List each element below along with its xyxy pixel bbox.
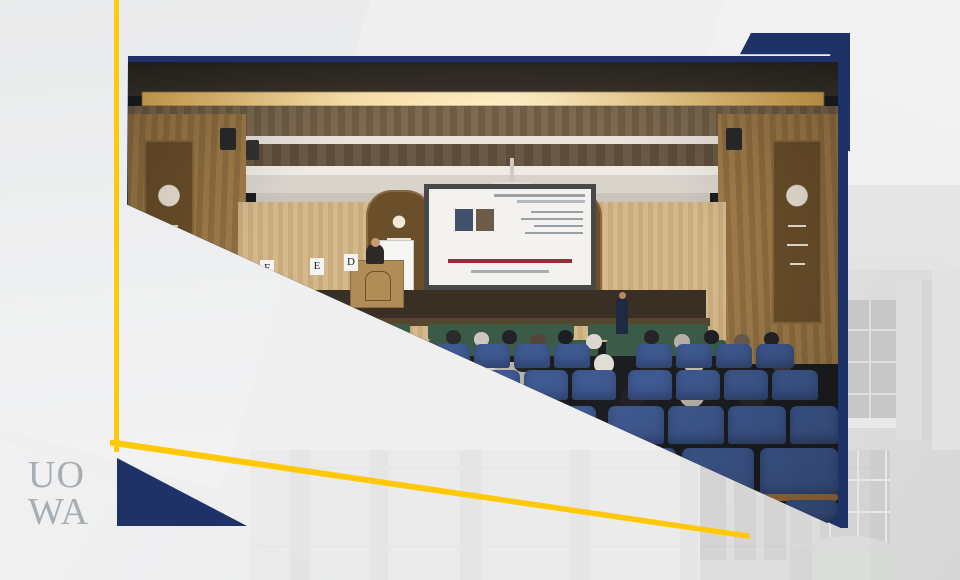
auditorium-seat <box>554 344 590 368</box>
auditorium-scene: H G F E D <box>128 62 838 523</box>
auditorium-seat <box>728 406 786 444</box>
slide-subtitle-bar <box>471 270 549 273</box>
aisle-step-marker <box>380 490 552 495</box>
auditorium-seat <box>428 370 472 400</box>
kufic-logo-icon <box>435 486 527 508</box>
front-seat-row <box>248 340 418 356</box>
usher-head <box>619 292 626 299</box>
audience-head <box>644 330 659 344</box>
auditorium-seat <box>220 368 264 398</box>
auditorium-seat <box>604 448 676 498</box>
auditorium-seat <box>316 368 360 398</box>
slide-title-bar <box>448 259 571 263</box>
podium <box>350 260 404 308</box>
auditorium-seat <box>480 406 536 444</box>
auditorium-seat <box>336 404 392 442</box>
audience-head <box>446 330 461 344</box>
row-letter-d: D <box>344 254 358 271</box>
auditorium-seat <box>676 370 720 400</box>
yellow-accent-vertical <box>114 0 119 452</box>
aisle-step-marker <box>420 406 512 411</box>
auditorium-seat <box>636 344 672 368</box>
seat-armrest <box>202 492 286 501</box>
auditorium-seat <box>526 448 598 498</box>
auditorium-seat <box>274 404 330 442</box>
auditorium-seat <box>268 368 312 398</box>
loudspeaker-icon <box>246 140 259 160</box>
row-letter-e: E <box>310 258 324 275</box>
row-letter-g: G <box>206 256 220 273</box>
auditorium-seat <box>250 502 350 523</box>
auditorium-seat <box>290 446 362 498</box>
slide-text-line <box>525 232 583 234</box>
aisle-step-marker <box>428 384 502 389</box>
audience-head <box>268 334 284 349</box>
auditorium-seat <box>608 406 664 444</box>
row-letter-f: F <box>260 260 274 277</box>
audience-head <box>306 352 325 370</box>
auditorium-seat <box>572 370 616 400</box>
audience-head <box>352 330 367 344</box>
slide-heading-line <box>494 194 585 197</box>
stage-front <box>258 290 706 320</box>
speaker-person <box>366 244 384 264</box>
auditorium-seat <box>760 448 838 498</box>
photo-watermark: UNIVERSITY OF WARITH AL-ANBIYAA <box>426 482 536 518</box>
auditorium-seat <box>668 406 724 444</box>
front-seat-row <box>260 324 410 340</box>
audience-head <box>342 354 361 372</box>
uowa-logo-line-2: WA <box>28 495 114 530</box>
slide-portrait-2 <box>476 209 494 231</box>
ceiling-light-strip <box>142 92 824 106</box>
audience-head <box>186 330 200 343</box>
audience-head <box>378 332 393 346</box>
audience-head <box>214 334 229 348</box>
auditorium-seat <box>784 500 838 523</box>
auditorium-seat <box>212 404 268 442</box>
aisle-step-marker <box>410 430 522 435</box>
seat-armrest <box>676 494 754 501</box>
watermark-subtitle: UNIVERSITY OF WARITH AL-ANBIYAA <box>436 510 526 515</box>
auditorium-seat <box>628 370 672 400</box>
audience-head <box>510 386 533 408</box>
audience-head <box>204 356 222 373</box>
uowa-logo-line-1: UO <box>28 458 114 493</box>
auditorium-seat <box>724 370 768 400</box>
auditorium-seat <box>172 368 216 398</box>
auditorium-seat <box>434 344 470 368</box>
audience-head <box>324 334 340 349</box>
speaker-head <box>371 238 380 247</box>
audience-head <box>558 330 573 344</box>
auditorium-seat <box>790 406 838 444</box>
foreground-person-hair <box>150 326 206 352</box>
auditorium-seat <box>716 344 752 368</box>
auditorium-seat <box>514 344 550 368</box>
ornamental-panel-right <box>772 140 822 324</box>
ceiling-dark-band <box>128 62 838 96</box>
auditorium-seat <box>756 344 794 368</box>
slide-portrait-1 <box>455 209 473 231</box>
slide-heading-line-2 <box>517 200 585 203</box>
ornamental-panel-left <box>144 140 194 324</box>
slide-text-line <box>534 225 583 227</box>
auditorium-seat <box>682 500 778 523</box>
projection-screen <box>424 184 596 290</box>
audience-head <box>458 382 480 403</box>
audience-head <box>172 352 190 369</box>
audience-head <box>378 352 397 370</box>
loudspeaker-icon <box>220 128 236 150</box>
seat-armrest <box>206 438 268 445</box>
audience-head <box>440 354 458 371</box>
audience-head <box>270 356 289 374</box>
audience-head <box>240 330 255 344</box>
seat-armrest <box>270 438 332 445</box>
uowa-logo: UO WA <box>28 458 114 538</box>
auditorium-seat <box>682 448 754 498</box>
aisle-step-marker <box>396 458 536 463</box>
foreground-person-head <box>150 330 206 388</box>
audience-head <box>704 330 719 344</box>
row-letter-h: H <box>150 238 164 255</box>
audience-head <box>502 330 517 344</box>
auditorium-seat <box>364 368 408 398</box>
seat-armrest <box>596 494 674 501</box>
poster-canvas: H G F E D <box>0 0 960 580</box>
auditorium-seat <box>540 406 596 444</box>
auditorium-seat <box>524 370 568 400</box>
auditorium-seat <box>474 344 510 368</box>
auditorium-seat <box>580 500 676 523</box>
loudspeaker-icon <box>726 128 742 150</box>
slide-text-line <box>521 218 583 220</box>
auditorium-seat <box>150 404 206 442</box>
seat-armrest <box>284 492 368 501</box>
hero-photo: H G F E D <box>128 62 838 523</box>
audience-head <box>296 332 311 346</box>
auditorium-seat <box>676 344 712 368</box>
audience-head <box>236 352 254 369</box>
auditorium-seat <box>134 446 206 498</box>
projection-screen-content <box>429 189 591 285</box>
hero-photo-frame: H G F E D <box>122 56 848 528</box>
foreground-person-body <box>138 362 220 522</box>
auditorium-seat <box>772 370 818 400</box>
auditorium-seat <box>144 502 244 523</box>
auditorium-seat <box>476 370 520 400</box>
slide-text-line <box>531 211 583 213</box>
usher-person <box>616 298 628 334</box>
auditorium-seat <box>212 446 284 498</box>
